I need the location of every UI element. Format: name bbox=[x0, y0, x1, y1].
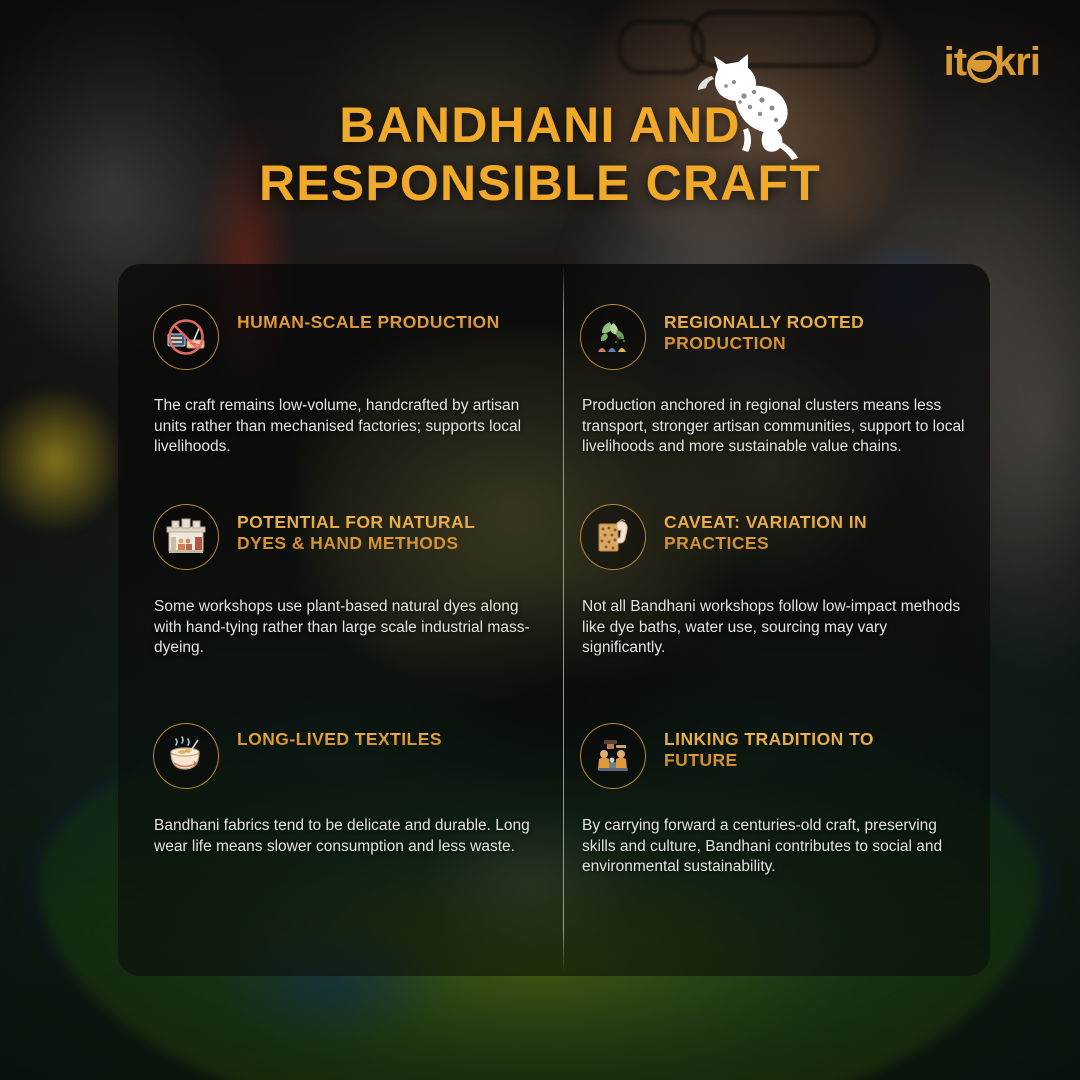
hand-holding-bandhani-fabric-icon bbox=[580, 504, 646, 570]
card-header: HUMAN-SCALE PRODUCTION bbox=[153, 304, 541, 370]
card-title: REGIONALLY ROOTED PRODUCTION bbox=[664, 304, 926, 355]
card-title: LINKING TRADITION TO FUTURE bbox=[664, 723, 926, 772]
two-artisans-working-icon bbox=[580, 723, 646, 789]
title-line-2: RESPONSIBLE CRAFT bbox=[0, 154, 1080, 212]
steaming-dye-pot-icon bbox=[153, 723, 219, 789]
card-header: REGIONALLY ROOTED PRODUCTION bbox=[580, 304, 966, 370]
page-title: BANDHANI AND RESPONSIBLE CRAFT bbox=[0, 96, 1080, 212]
card-title: POTENTIAL FOR NATURAL DYES & HAND METHOD… bbox=[237, 504, 517, 555]
artisan-workshop-building-icon bbox=[153, 504, 219, 570]
card-regionally-rooted-production: REGIONALLY ROOTED PRODUCTION Production … bbox=[563, 264, 990, 464]
no-factory-machine-icon bbox=[153, 304, 219, 370]
card-title: LONG-LIVED TEXTILES bbox=[237, 723, 442, 750]
card-body: The craft remains low-volume, handcrafte… bbox=[154, 396, 541, 458]
card-header: LONG-LIVED TEXTILES bbox=[153, 723, 541, 789]
basket-icon bbox=[967, 49, 993, 75]
card-linking-tradition-to-future: LINKING TRADITION TO FUTURE By carrying … bbox=[563, 673, 990, 976]
card-header: POTENTIAL FOR NATURAL DYES & HAND METHOD… bbox=[153, 504, 541, 570]
card-header: CAVEAT: VARIATION IN PRACTICES bbox=[580, 504, 966, 570]
card-body: Production anchored in regional clusters… bbox=[582, 396, 966, 458]
logo-text-before: it bbox=[944, 42, 966, 82]
card-body: Not all Bandhani workshops follow low-im… bbox=[582, 597, 966, 659]
cards-grid: HUMAN-SCALE PRODUCTION The craft remains… bbox=[118, 264, 990, 976]
infographic-poster: itkri BANDHANI AND RESPONSIBLE CRAFT bbox=[0, 0, 1080, 1080]
title-line-1: BANDHANI AND bbox=[0, 96, 1080, 154]
card-title: CAVEAT: VARIATION IN PRACTICES bbox=[664, 504, 926, 555]
column-divider bbox=[563, 266, 564, 972]
card-long-lived-textiles: LONG-LIVED TEXTILES Bandhani fabrics ten… bbox=[118, 673, 563, 976]
card-body: Some workshops use plant-based natural d… bbox=[154, 597, 541, 659]
card-caveat-variation-in-practices: CAVEAT: VARIATION IN PRACTICES Not all B… bbox=[563, 464, 990, 673]
logo-text-after: kri bbox=[994, 42, 1040, 82]
card-body: Bandhani fabrics tend to be delicate and… bbox=[154, 816, 541, 857]
card-title: HUMAN-SCALE PRODUCTION bbox=[237, 304, 500, 333]
leaves-and-dye-powders-icon bbox=[580, 304, 646, 370]
card-natural-dyes-hand-methods: POTENTIAL FOR NATURAL DYES & HAND METHOD… bbox=[118, 464, 563, 673]
card-body: By carrying forward a centuries-old craf… bbox=[582, 816, 966, 878]
card-header: LINKING TRADITION TO FUTURE bbox=[580, 723, 966, 789]
card-human-scale-production: HUMAN-SCALE PRODUCTION The craft remains… bbox=[118, 264, 563, 464]
brand-logo-itokri[interactable]: itkri bbox=[944, 42, 1040, 82]
